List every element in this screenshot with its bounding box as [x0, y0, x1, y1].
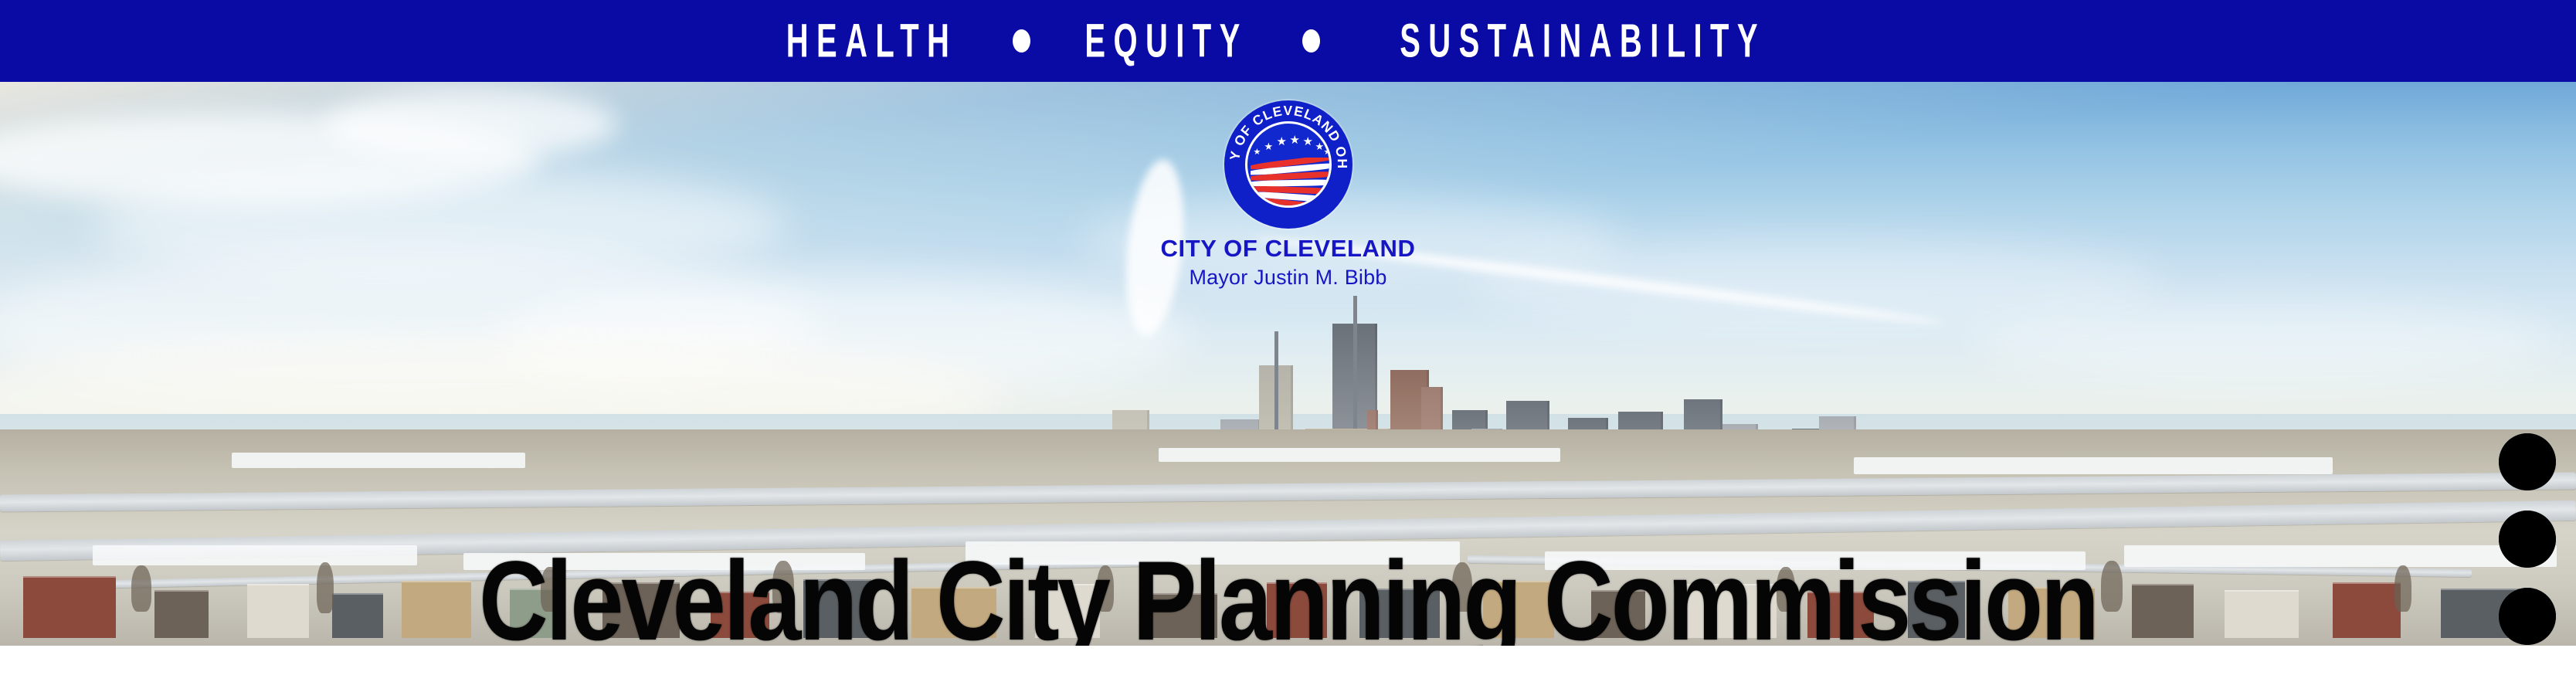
tagline-word-sustainability: SUSTAINABILITY — [1397, 18, 1768, 65]
facebook-icon — [2499, 588, 2556, 645]
youtube-link[interactable] — [2499, 433, 2556, 490]
snow-patch — [1159, 448, 1560, 462]
tagline-word-health: HEALTH — [783, 18, 959, 65]
social-media-rail[interactable] — [2499, 433, 2556, 645]
tagline-banner: HEALTH EQUITY SUSTAINABILITY — [0, 0, 2576, 82]
cloud-3 — [324, 90, 618, 159]
youtube-icon — [2499, 433, 2556, 490]
hero-photo: CITY OF CLEVELAND OHIO ★ ★ ★ ★ ★ ★ ★ — [0, 82, 2576, 646]
tagline-row: HEALTH EQUITY SUSTAINABILITY — [762, 22, 1814, 60]
tagline-separator-dot-1 — [1013, 29, 1030, 53]
facebook-link[interactable] — [2499, 588, 2556, 645]
instagram-icon — [2499, 511, 2556, 568]
instagram-link[interactable] — [2499, 511, 2556, 568]
page-root: HEALTH EQUITY SUSTAINABILITY — [0, 0, 2576, 682]
snow-patch — [232, 453, 525, 468]
page-title: Cleveland City Planning Commission — [39, 545, 2537, 646]
snow-patch — [1854, 457, 2333, 474]
bottom-white-strip — [0, 646, 2576, 682]
tagline-separator-dot-2 — [1302, 29, 1320, 53]
tagline-word-equity: EQUITY — [1082, 18, 1251, 65]
